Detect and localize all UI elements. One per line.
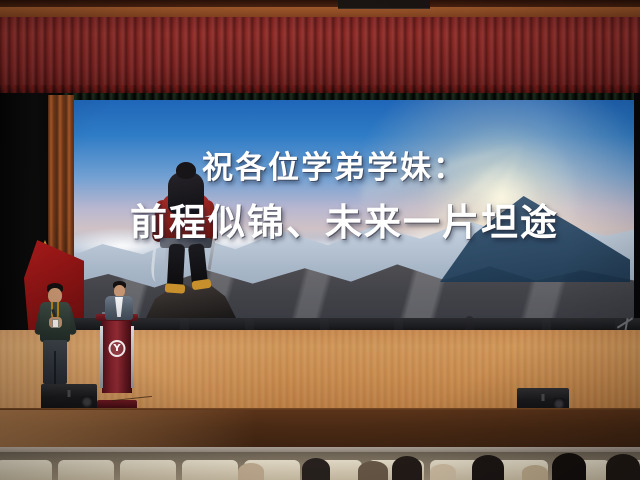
audience-row <box>0 452 640 480</box>
audience-head <box>358 461 388 480</box>
audience-head <box>238 463 264 480</box>
audience-head <box>472 455 504 480</box>
seat-back <box>182 460 238 480</box>
standing-speaker <box>35 283 75 393</box>
presenter-at-podium <box>104 281 134 319</box>
audience-head <box>552 453 586 480</box>
led-screen: 祝各位学弟学妹： 前程似锦、未来一片坦途 <box>62 100 640 322</box>
climber-harness <box>160 238 212 248</box>
ceiling-shadow <box>0 0 640 7</box>
climber-head <box>176 162 196 179</box>
podium-rail-right <box>131 326 134 388</box>
climber-left-leg <box>167 244 185 289</box>
seat-back <box>120 460 176 480</box>
ceiling-projector-box <box>338 0 430 9</box>
podium: Y <box>96 314 138 410</box>
audience-head <box>302 458 330 480</box>
climber-left-boot <box>165 283 186 293</box>
audience-head <box>430 464 456 480</box>
podium-emblem-label: Y <box>111 340 124 357</box>
audience-head <box>522 465 548 480</box>
speaker-leg-gap <box>54 351 56 384</box>
auditorium-photo: 祝各位学弟学妹： 前程似锦、未来一片坦途 Y <box>0 0 640 480</box>
speaker-head <box>48 288 62 303</box>
seat-back <box>58 460 114 480</box>
red-valance-curtain <box>0 17 640 92</box>
seat-back <box>0 460 52 480</box>
mountain-climber-figure <box>140 160 236 310</box>
audience-head <box>606 454 640 480</box>
audience-head <box>392 456 422 480</box>
podium-rail-left <box>100 326 103 388</box>
podium-emblem: Y <box>109 340 126 357</box>
speaker-id-badge <box>52 319 59 328</box>
podium-body <box>102 321 132 393</box>
